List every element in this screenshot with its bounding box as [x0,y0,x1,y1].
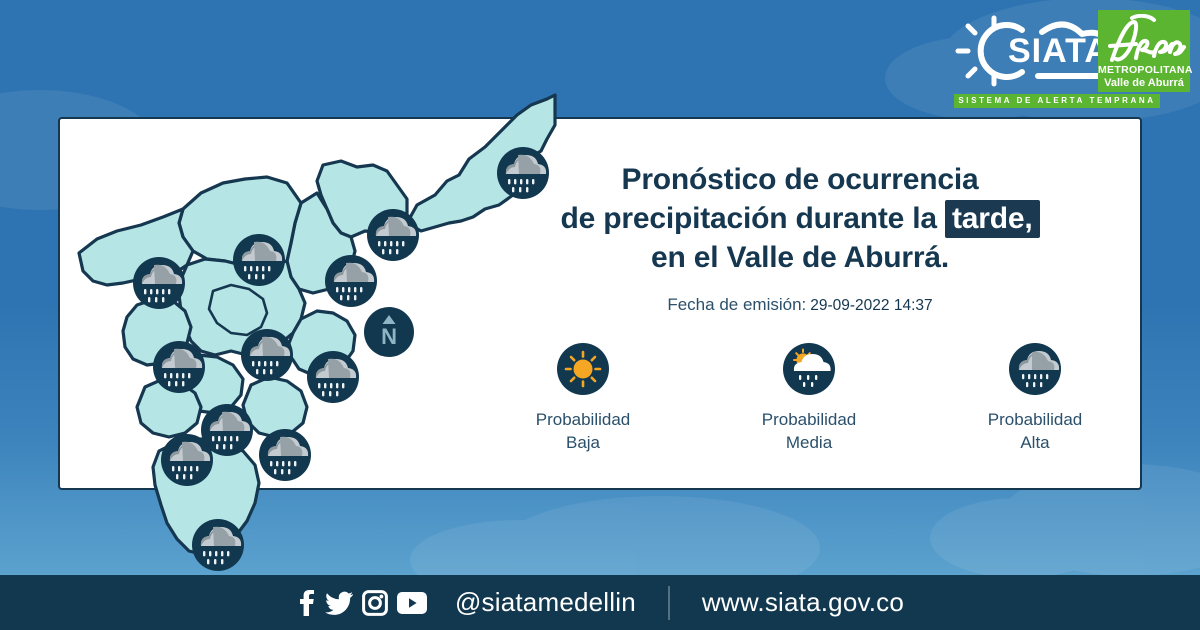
instagram-icon[interactable] [362,590,388,616]
legend-label-baja: Probabilidad Baja [518,409,648,455]
svg-text:SIATA: SIATA [1008,32,1110,70]
legend-label-alta: Probabilidad Alta [970,409,1100,455]
area-metropolitana-logo: METROPOLITANA Valle de Aburrá [1098,10,1190,92]
logo-group: SIATA SISTEMA DE ALERTA TEMPRANA METRO [950,10,1190,92]
forecast-content: Pronóstico de ocurrencia de precipitació… [470,160,1130,455]
siata-logo: SIATA SISTEMA DE ALERTA TEMPRANA [950,10,1090,92]
probability-legend: Probabilidad Baja [470,341,1130,455]
sun-cloud-rain-icon [781,341,837,397]
sun-icon [555,341,611,397]
page-title: Pronóstico de ocurrencia de precipitació… [470,160,1130,277]
legend-item-media: Probabilidad Media [744,341,874,455]
weather-icon-alta[interactable] [233,234,285,286]
facebook-icon[interactable] [296,590,316,616]
emission-date: Fecha de emisión:29-09-2022 14:37 [470,295,1130,315]
infographic-canvas: SIATA SISTEMA DE ALERTA TEMPRANA METRO [0,0,1200,630]
title-line-2-text: de precipitación durante la [561,202,937,235]
title-line-1: Pronóstico de ocurrencia [470,160,1130,199]
compass-label: N [381,324,397,349]
area-valle-label: Valle de Aburrá [1098,77,1190,89]
weather-icon-alta[interactable] [153,341,205,393]
legend-item-baja: Probabilidad Baja [518,341,648,455]
area-metropolitana-label: METROPOLITANA [1098,64,1190,76]
weather-icon-alta[interactable] [325,255,377,307]
twitter-icon[interactable] [325,590,353,616]
compass-rose: N [364,307,414,357]
weather-icon-alta[interactable] [133,257,185,309]
footer-bar: @siatamedellin www.siata.gov.co [0,575,1200,630]
weather-icon-alta[interactable] [367,209,419,261]
weather-icon-alta[interactable] [241,329,293,381]
title-line-2: de precipitación durante la tarde, [470,199,1130,238]
emission-date-value: 29-09-2022 14:37 [810,297,932,314]
legend-item-alta: Probabilidad Alta [970,341,1100,455]
legend-label-media: Probabilidad Media [744,409,874,455]
website-url[interactable]: www.siata.gov.co [702,587,904,618]
area-signature-icon [1102,14,1186,71]
social-icons [296,590,427,616]
cloud-rain-icon [1007,341,1063,397]
title-highlight-tarde: tarde, [945,200,1040,238]
weather-icon-alta[interactable] [307,351,359,403]
title-line-3: en el Valle de Aburrá. [470,238,1130,277]
siata-tagline: SISTEMA DE ALERTA TEMPRANA [954,94,1160,108]
weather-icon-alta[interactable] [259,429,311,481]
social-handle[interactable]: @siatamedellin [455,587,636,618]
youtube-icon[interactable] [397,592,427,614]
footer-divider [668,586,670,620]
weather-icon-alta[interactable] [161,434,213,486]
emission-date-label: Fecha de emisión: [667,295,806,314]
weather-icon-alta[interactable] [192,519,244,571]
